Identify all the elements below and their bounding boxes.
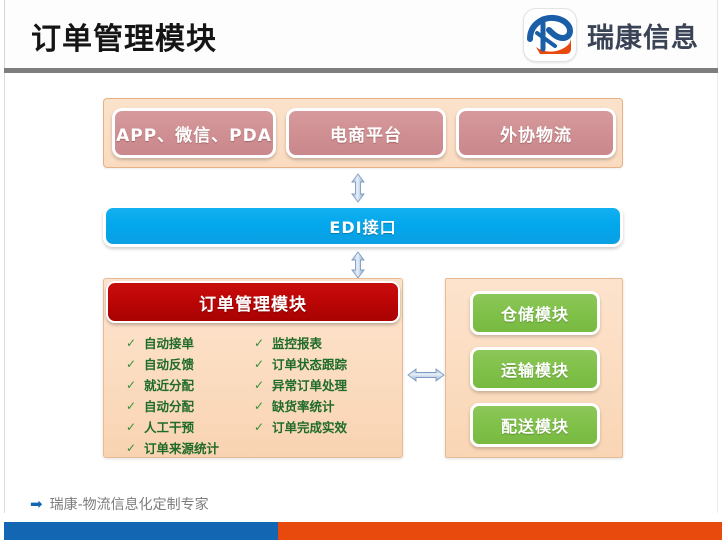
feature-item: ✓ 订单来源统计: [126, 437, 254, 458]
feature-label: 自动反馈: [144, 354, 194, 373]
feature-item: ✓ 就近分配: [126, 374, 254, 395]
module-chip-label: 仓储模块: [501, 301, 569, 325]
check-icon: ✓: [126, 441, 144, 455]
feature-label: 订单状态跟踪: [272, 354, 347, 373]
footer-tagline-label: 瑞康-物流信息化定制专家: [50, 494, 209, 514]
feature-label: 订单来源统计: [144, 438, 219, 457]
order-management-module-card: 订单管理模块 ✓ 自动接单 ✓ 自动反馈 ✓ 就近分配: [103, 278, 403, 458]
downstream-modules-panel: 仓储模块 运输模块 配送模块: [445, 278, 623, 458]
channel-chip-outsourced-logistics[interactable]: 外协物流: [456, 108, 616, 158]
brand-lockup: 瑞康信息: [523, 8, 699, 62]
channel-sources-group: APP、微信、PDA 电商平台 外协物流: [103, 98, 623, 168]
check-icon: ✓: [254, 399, 272, 413]
feature-item: ✓ 监控报表: [254, 332, 382, 353]
check-icon: ✓: [254, 378, 272, 392]
feature-item: ✓ 缺货率统计: [254, 395, 382, 416]
check-icon: ✓: [126, 399, 144, 413]
feature-column-left: ✓ 自动接单 ✓ 自动反馈 ✓ 就近分配 ✓ 自动分配: [126, 332, 254, 453]
check-icon: ✓: [254, 420, 272, 434]
slide-header: 订单管理模块 瑞康信息: [4, 0, 718, 68]
feature-item: ✓ 订单状态跟踪: [254, 353, 382, 374]
brand-name: 瑞康信息: [587, 16, 699, 55]
channel-chip-ecommerce-platform[interactable]: 电商平台: [286, 108, 446, 158]
feature-label: 就近分配: [144, 375, 194, 394]
slide-root: 订单管理模块 瑞康信息 APP、微信、PDA 电商平台: [0, 0, 722, 540]
feature-column-right: ✓ 监控报表 ✓ 订单状态跟踪 ✓ 异常订单处理 ✓ 缺货率统计: [254, 332, 382, 453]
check-icon: ✓: [254, 336, 272, 350]
edi-interface-bar[interactable]: EDI接口: [103, 205, 623, 247]
connector-order-module-to-downstream: [407, 365, 445, 390]
feature-label: 自动分配: [144, 396, 194, 415]
order-management-module-title-label: 订单管理模块: [199, 290, 307, 315]
module-chip-label: 运输模块: [501, 357, 569, 381]
module-chip-delivery[interactable]: 配送模块: [470, 403, 600, 447]
ruikang-logo-icon: [523, 8, 577, 62]
edi-interface-label: EDI接口: [329, 214, 396, 238]
feature-label: 异常订单处理: [272, 375, 347, 394]
footer-bar-blue: [4, 522, 278, 540]
feature-item: ✓ 异常订单处理: [254, 374, 382, 395]
channel-chip-label: 电商平台: [330, 121, 402, 146]
check-icon: ✓: [126, 378, 144, 392]
feature-item: ✓ 自动接单: [126, 332, 254, 353]
channel-chip-app-wechat-pda[interactable]: APP、微信、PDA: [112, 108, 276, 158]
module-chip-transport[interactable]: 运输模块: [470, 347, 600, 391]
feature-label: 监控报表: [272, 333, 322, 352]
order-management-module-title[interactable]: 订单管理模块: [106, 281, 400, 323]
footer-bar-orange: [278, 522, 722, 540]
check-icon: ✓: [254, 357, 272, 371]
arrow-right-icon: ➡: [30, 495, 43, 513]
feature-item: ✓ 人工干预: [126, 416, 254, 437]
connector-channels-to-edi: [348, 173, 368, 208]
feature-label: 人工干预: [144, 417, 194, 436]
check-icon: ✓: [126, 357, 144, 371]
feature-label: 自动接单: [144, 333, 194, 352]
order-module-feature-list: ✓ 自动接单 ✓ 自动反馈 ✓ 就近分配 ✓ 自动分配: [104, 327, 402, 453]
module-chip-label: 配送模块: [501, 413, 569, 437]
slide-body: APP、微信、PDA 电商平台 外协物流: [4, 73, 718, 513]
feature-label: 订单完成实效: [272, 417, 347, 436]
channel-chip-label: 外协物流: [500, 121, 572, 146]
feature-item: ✓ 自动分配: [126, 395, 254, 416]
check-icon: ✓: [126, 336, 144, 350]
module-chip-warehouse[interactable]: 仓储模块: [470, 291, 600, 335]
footer-tagline: ➡ 瑞康-物流信息化定制专家: [30, 494, 209, 514]
page-title: 订单管理模块: [31, 14, 217, 58]
feature-label: 缺货率统计: [272, 396, 335, 415]
feature-item: ✓ 订单完成实效: [254, 416, 382, 437]
check-icon: ✓: [126, 420, 144, 434]
channel-chip-label: APP、微信、PDA: [116, 121, 272, 146]
feature-item: ✓ 自动反馈: [126, 353, 254, 374]
